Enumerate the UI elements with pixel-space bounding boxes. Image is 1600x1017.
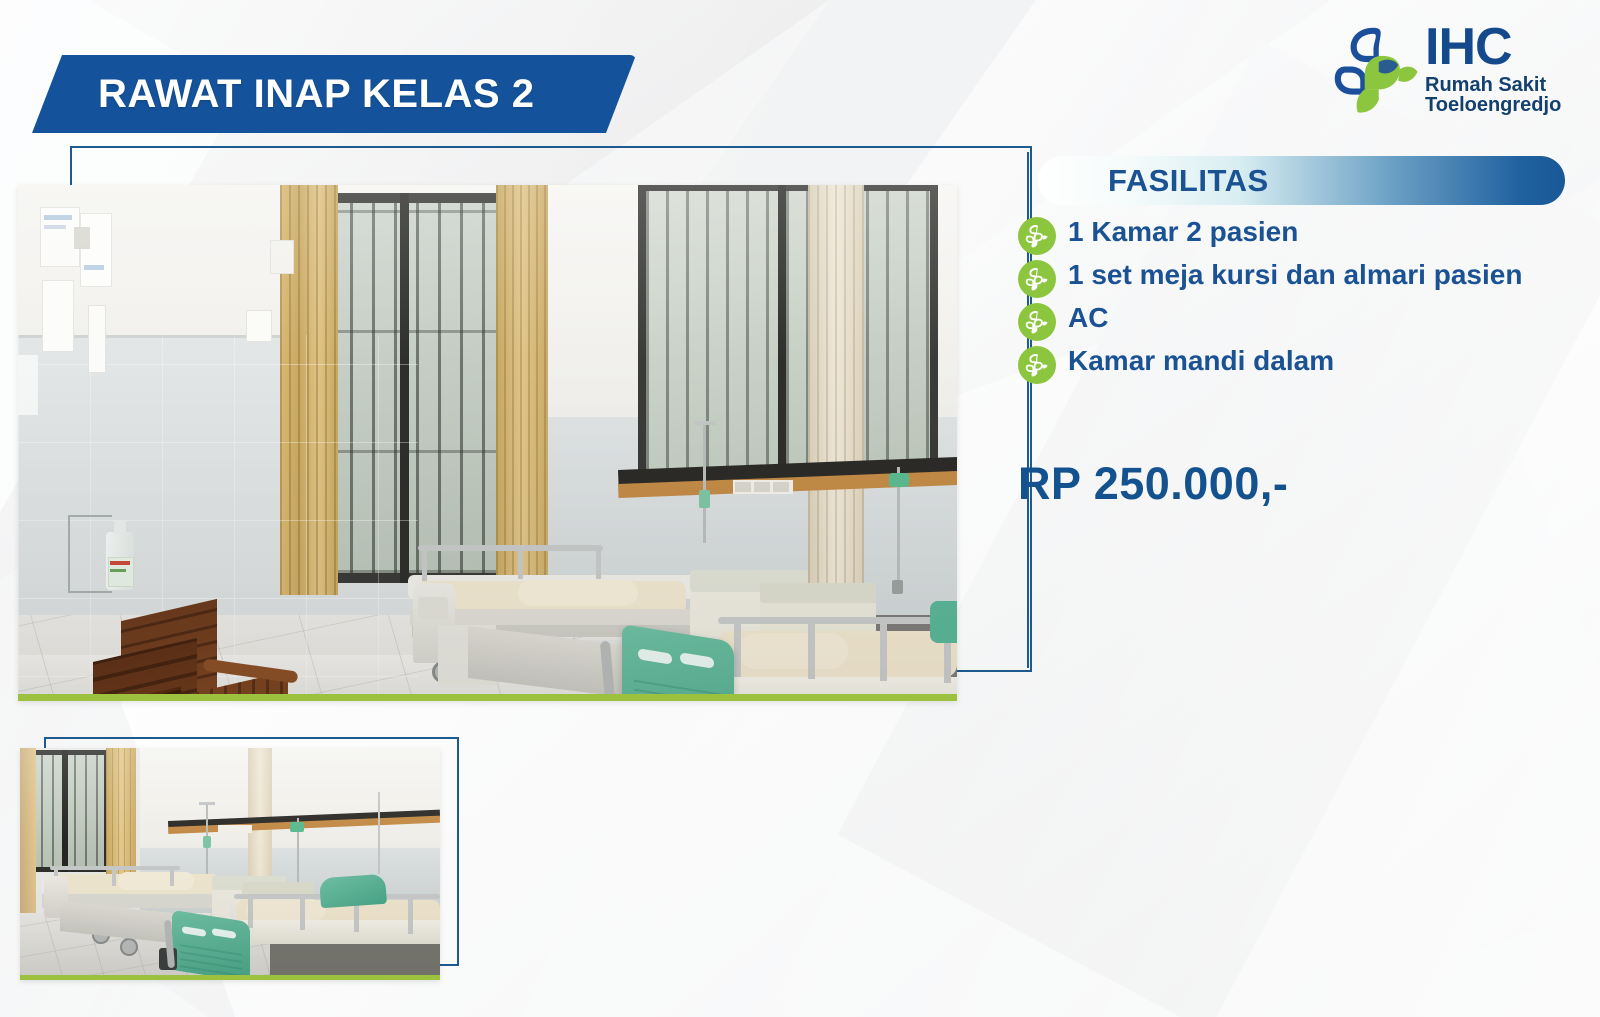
thumbnail-photo[interactable]: [20, 748, 440, 980]
page-title-banner: RAWAT INAP KELAS 2: [24, 55, 636, 133]
list-item: AC: [1018, 300, 1578, 341]
page-title: RAWAT INAP KELAS 2: [98, 72, 534, 117]
logo-subtitle-line1: Rumah Sakit: [1425, 75, 1561, 95]
list-item-label: 1 Kamar 2 pasien: [1068, 214, 1298, 251]
ihc-leaf-cross-icon: [1333, 20, 1421, 120]
price-text: RP 250.000,-: [1018, 458, 1288, 510]
ihc-leaf-cross-icon: [1018, 260, 1056, 298]
facilities-heading: FASILITAS: [1108, 163, 1269, 199]
logo-acronym: IHC: [1425, 24, 1561, 72]
list-item: Kamar mandi dalam: [1018, 343, 1578, 384]
facilities-list: 1 Kamar 2 pasien 1 set meja kursi dan al…: [1018, 214, 1578, 386]
list-item-label: AC: [1068, 300, 1108, 337]
list-item: 1 set meja kursi dan almari pasien: [1018, 257, 1578, 298]
ihc-leaf-cross-icon: [1018, 303, 1056, 341]
facilities-header-pill: FASILITAS: [1038, 156, 1565, 205]
ihc-leaf-cross-icon: [1018, 346, 1056, 384]
main-photo: [18, 185, 957, 701]
list-item-label: 1 set meja kursi dan almari pasien: [1068, 257, 1522, 294]
logo-subtitle-line2: Toeloengredjo: [1425, 95, 1561, 115]
list-item-label: Kamar mandi dalam: [1068, 343, 1334, 380]
list-item: 1 Kamar 2 pasien: [1018, 214, 1578, 255]
brand-logo: IHC Rumah Sakit Toeloengredjo: [1333, 18, 1581, 130]
ihc-leaf-cross-icon: [1018, 217, 1056, 255]
